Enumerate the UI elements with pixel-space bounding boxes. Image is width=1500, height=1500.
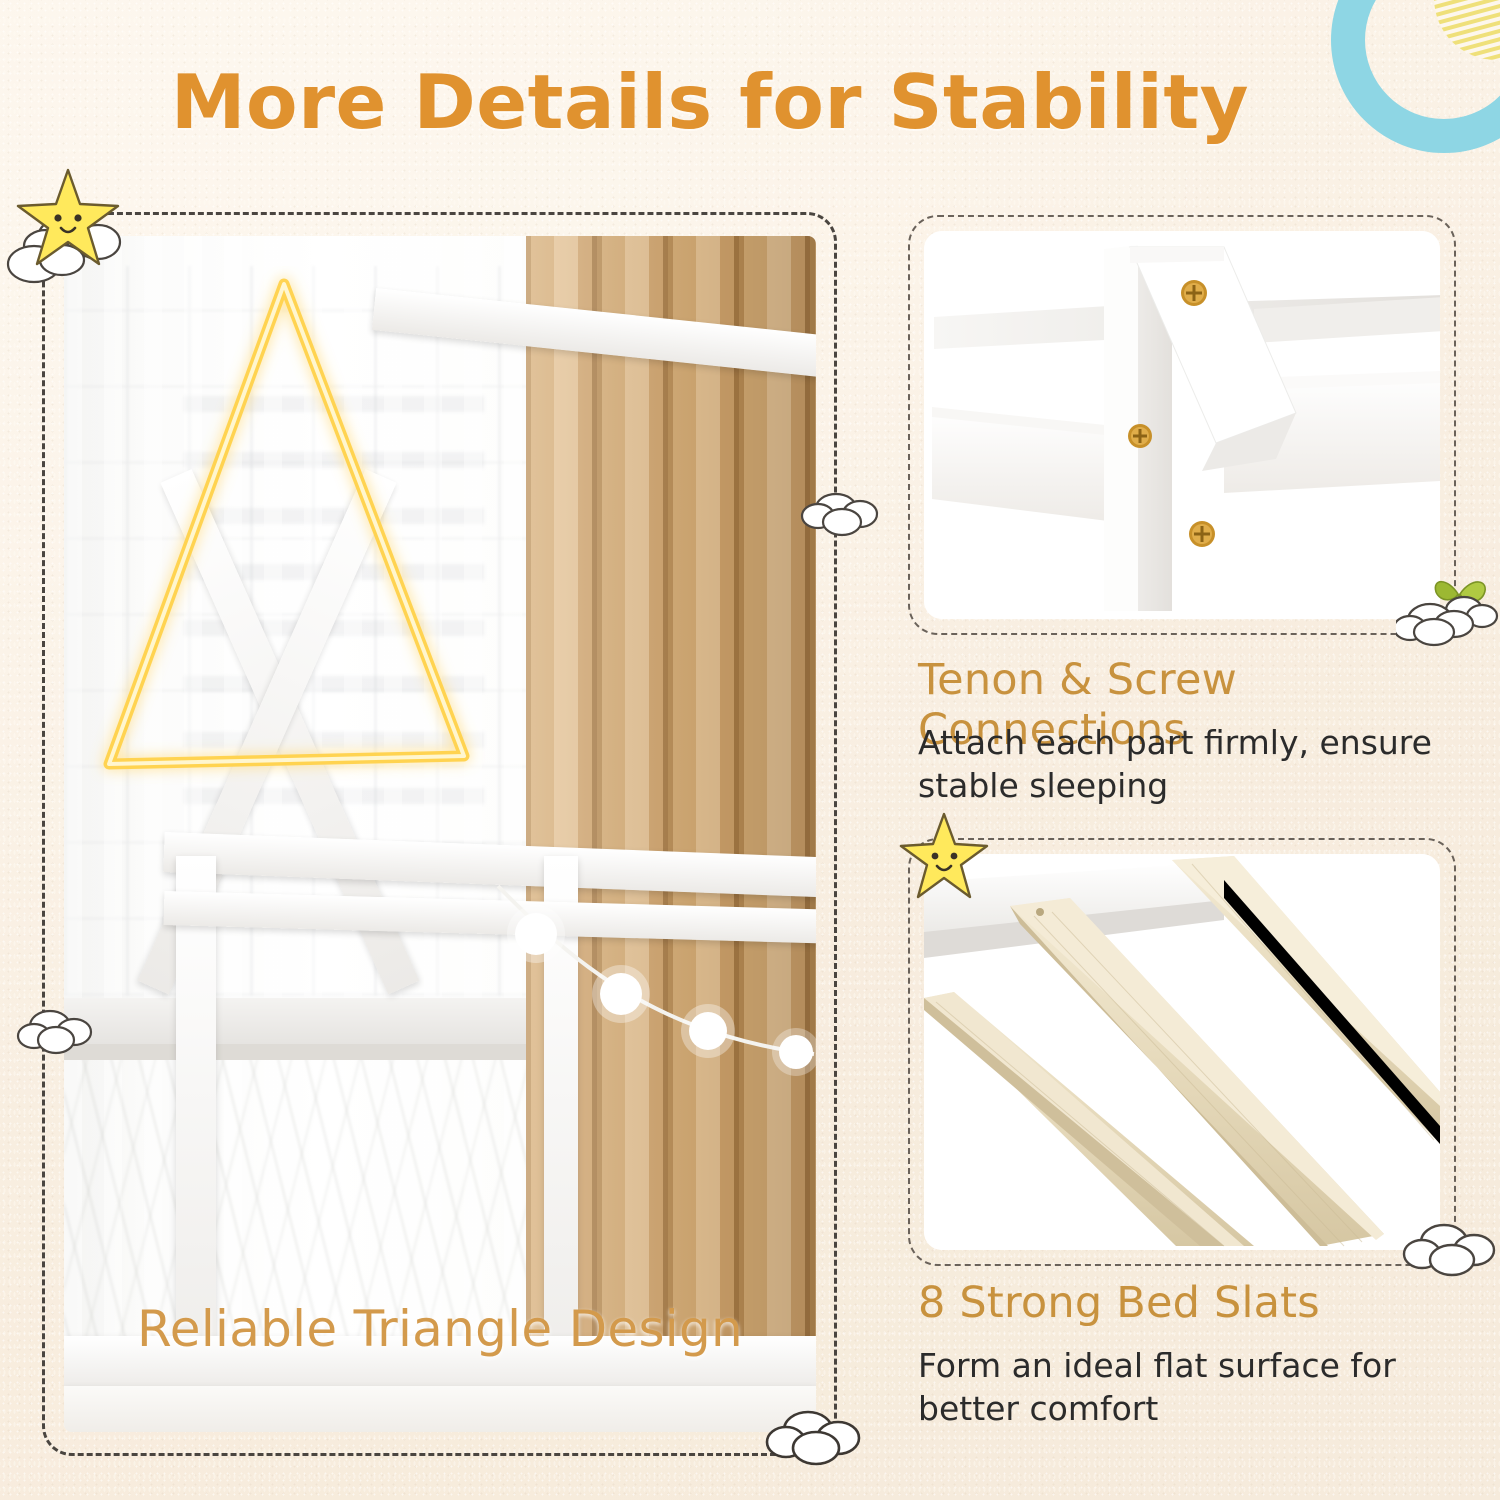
reliable-triangle-panel: Reliable Triangle Design	[42, 212, 837, 1456]
left-panel-dashed-border	[42, 212, 837, 1456]
joint-panel-dashed-border	[908, 215, 1456, 635]
bed-slats-panel	[908, 838, 1456, 1266]
star-icon-slat-panel	[894, 806, 994, 902]
cloud-sprout-icon	[1396, 548, 1500, 648]
cloud-icon-slat-panel	[1400, 1212, 1500, 1290]
star-on-cloud-icon	[6, 160, 156, 300]
bed-slats-body: Form an ideal flat surface for better co…	[918, 1345, 1486, 1431]
slat-panel-dashed-border	[908, 838, 1456, 1266]
cloud-icon-left-panel-edge	[800, 484, 892, 546]
tenon-screw-panel	[908, 215, 1456, 635]
bed-slats-heading: 8 Strong Bed Slats	[918, 1278, 1320, 1328]
cloud-icon-left-panel-bottom	[764, 1400, 874, 1478]
page-title: More Details for Stability	[0, 58, 1420, 146]
tenon-screw-body: Attach each part firmly, ensure stable s…	[918, 722, 1486, 808]
cloud-icon-left-middle	[16, 1000, 106, 1060]
left-panel-caption: Reliable Triangle Design	[64, 1300, 816, 1358]
